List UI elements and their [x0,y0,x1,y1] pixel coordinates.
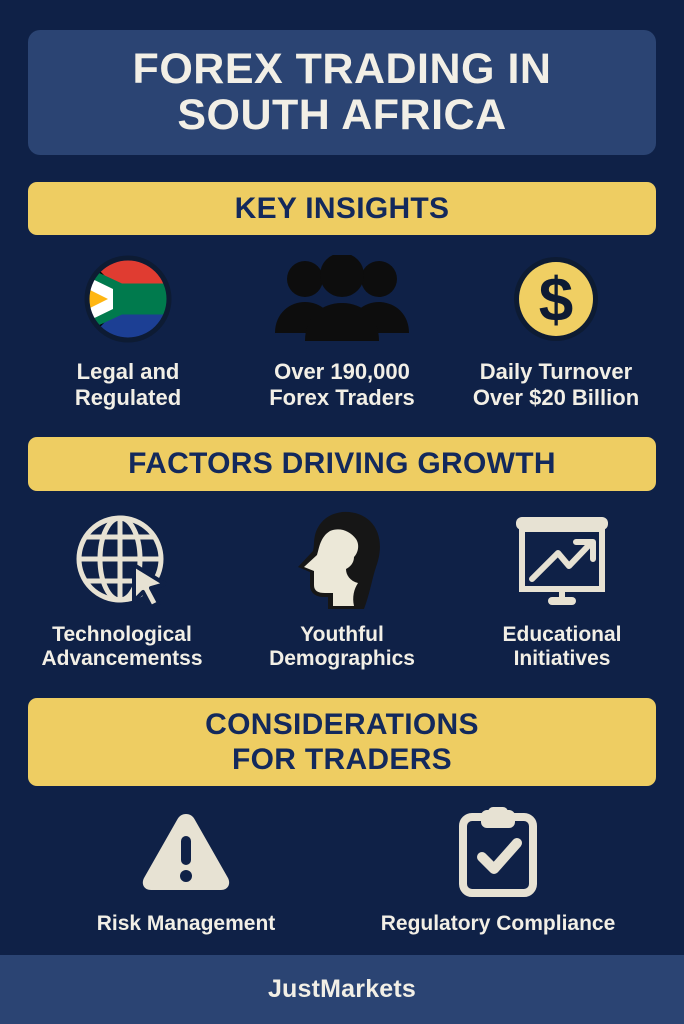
south-africa-flag-icon [82,251,174,347]
key-insight-legal-line1: Legal and [77,359,180,384]
key-insight-item-traders: Over 190,000 Forex Traders [242,251,442,410]
footer-bar: JustMarkets [0,955,684,1024]
factor-technological-line1: Technological [52,623,192,646]
factors-row: Technological Advancementss Youthful Dem… [0,509,684,672]
key-insight-traders-line2: Forex Traders [269,385,415,411]
key-insight-traders-line1: Over 190,000 [274,359,410,384]
consideration-item-risk-label: Risk Management [97,912,276,936]
key-insight-turnover-line2: Over $20 Billion [473,385,639,411]
section-bar-considerations-label: CONSIDERATIONS FOR TRADERS [205,707,479,778]
factor-youthful-line2: Demographics [269,647,415,671]
key-insights-row: Legal and Regulated Over 19 [0,251,684,410]
consideration-risk-line1: Risk Management [97,912,276,935]
section-bar-key-insights-label: KEY INSIGHTS [235,191,450,226]
factor-item-educational-label: Educational Initiatives [502,623,621,672]
key-insight-item-turnover: $ Daily Turnover Over $20 Billion [456,251,656,410]
consideration-item-risk: Risk Management [61,806,311,936]
section-bar-factors-line1: FACTORS DRIVING GROWTH [128,447,556,480]
dollar-coin-icon: $ [510,251,602,347]
head-profile-icon [292,509,392,613]
factor-educational-line1: Educational [502,623,621,646]
factor-item-youthful: Youthful Demographics [237,509,447,672]
factor-educational-line2: Initiatives [502,647,621,671]
clipboard-check-icon [457,806,539,898]
header-panel: FOREX TRADING IN SOUTH AFRICA [28,30,656,155]
consideration-item-regulatory: Regulatory Compliance [373,806,623,936]
factor-item-youthful-label: Youthful Demographics [269,623,415,672]
infographic-root: FOREX TRADING IN SOUTH AFRICA KEY INSIGH… [0,0,684,1024]
section-bar-key-insights-line1: KEY INSIGHTS [235,192,450,225]
section-bar-considerations-line2: FOR TRADERS [205,742,479,777]
section-bar-key-insights: KEY INSIGHTS [28,182,656,235]
brand-logo-text: JustMarkets [268,975,416,1004]
svg-text:$: $ [539,266,573,335]
globe-cursor-icon [72,509,172,613]
key-insight-item-legal: Legal and Regulated [28,251,228,410]
page-title: FOREX TRADING IN SOUTH AFRICA [133,47,552,137]
section-bar-considerations-line1: CONSIDERATIONS [205,708,479,741]
presentation-chart-icon [510,509,614,613]
factor-item-educational: Educational Initiatives [457,509,667,672]
section-bar-factors-driving-growth: FACTORS DRIVING GROWTH [28,437,656,490]
factor-youthful-line1: Youthful [300,623,384,646]
key-insight-item-turnover-label: Daily Turnover Over $20 Billion [473,359,639,410]
considerations-row: Risk Management Regulatory Compliance [0,806,684,936]
section-bar-considerations-for-traders: CONSIDERATIONS FOR TRADERS [28,698,656,787]
consideration-regulatory-line1: Regulatory Compliance [381,912,616,935]
page-title-line1: FOREX TRADING IN [133,45,552,93]
key-insight-item-traders-label: Over 190,000 Forex Traders [269,359,415,410]
people-group-icon [272,251,412,347]
page-title-line2: SOUTH AFRICA [133,93,552,138]
factor-item-technological: Technological Advancementss [17,509,227,672]
factor-technological-line2: Advancementss [41,647,202,671]
factor-item-technological-label: Technological Advancementss [41,623,202,672]
section-bar-factors-label: FACTORS DRIVING GROWTH [128,446,556,481]
warning-triangle-icon [140,806,232,898]
key-insight-legal-line2: Regulated [75,385,181,411]
key-insight-turnover-line1: Daily Turnover [480,359,632,384]
consideration-item-regulatory-label: Regulatory Compliance [381,912,616,936]
key-insight-item-legal-label: Legal and Regulated [75,359,181,410]
